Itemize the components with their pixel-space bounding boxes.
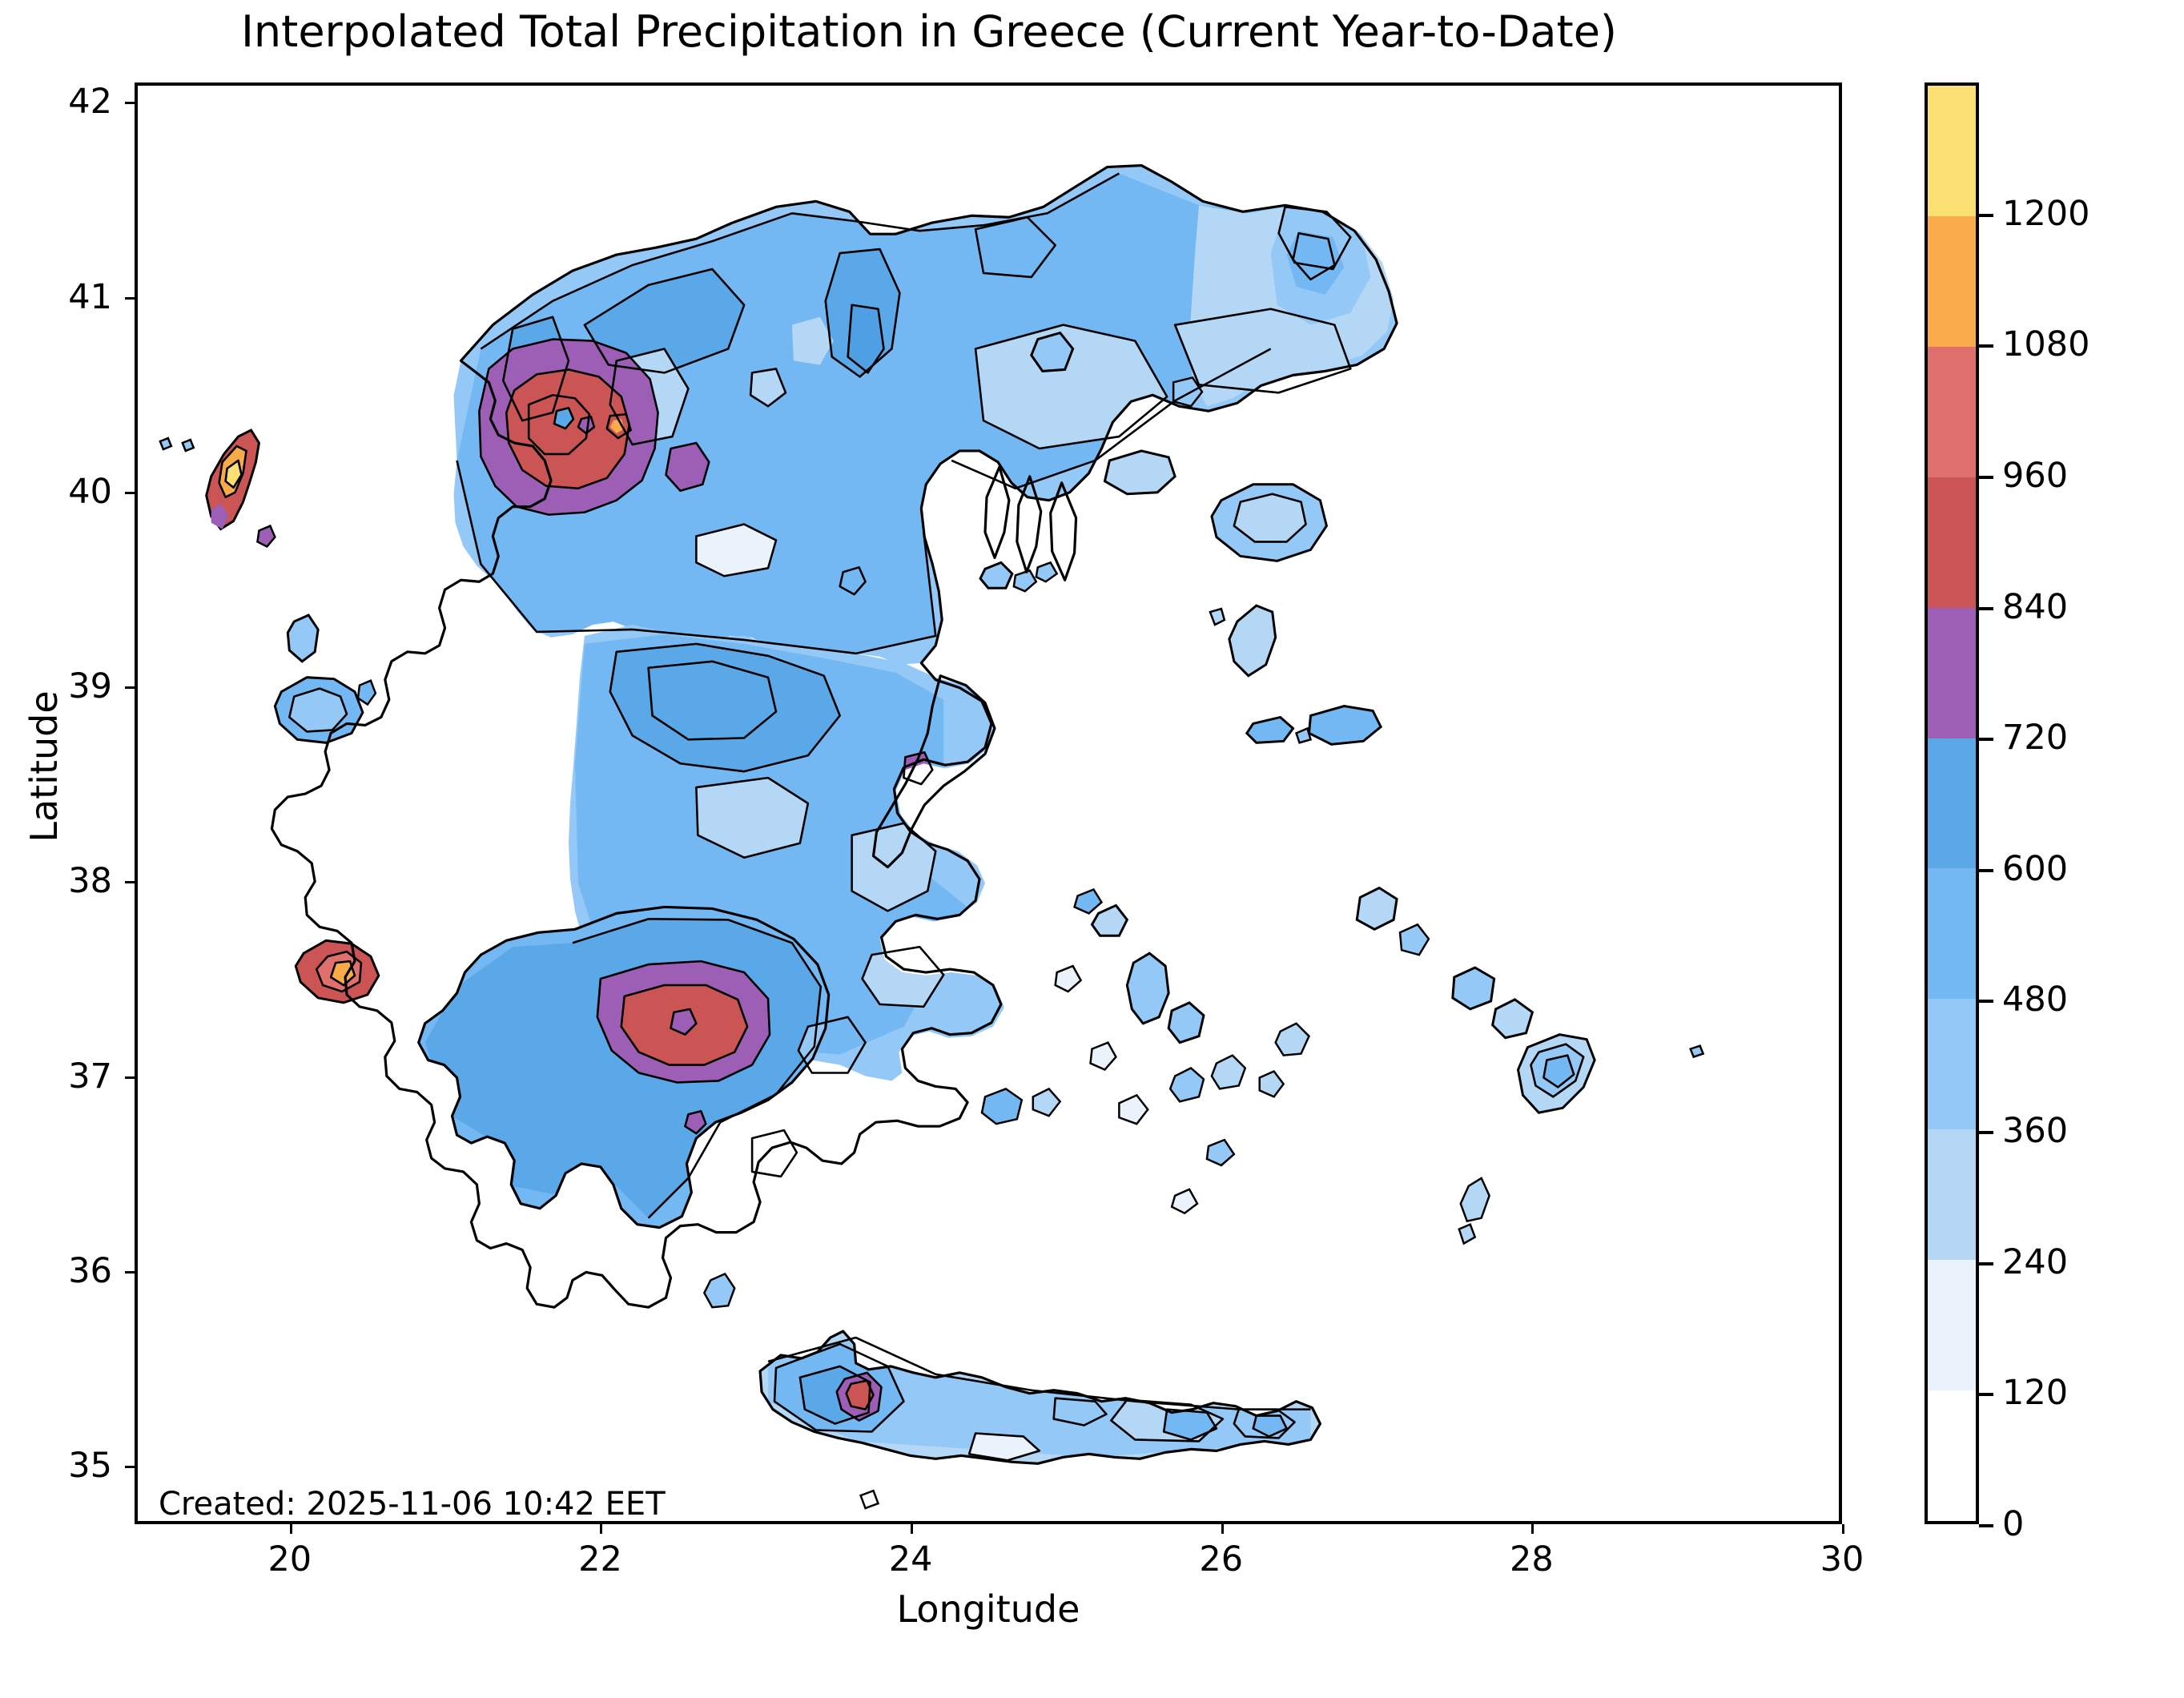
- x-tick-mark: [600, 1524, 602, 1534]
- colorbar-tick-label: 360: [2002, 1111, 2068, 1151]
- colorbar-tick-mark: [1979, 1393, 1993, 1396]
- colorbar-tick-label: 840: [2002, 587, 2068, 627]
- y-axis-label: Latitude: [22, 606, 66, 927]
- created-timestamp: Created: 2025-11-06 10:42 EET: [159, 1486, 666, 1523]
- colorbar-tick-label: 120: [2002, 1373, 2068, 1413]
- colorbar-tick-label: 0: [2002, 1504, 2024, 1544]
- y-tick-mark: [125, 492, 135, 494]
- y-tick-label: 39: [68, 666, 112, 706]
- x-tick-label: 30: [1820, 1539, 1864, 1579]
- colorbar-band-10: [1928, 86, 1976, 216]
- colorbar-tick-mark: [1979, 738, 1993, 741]
- colorbar-tick-label: 1200: [2002, 194, 2089, 234]
- x-axis-label: Longitude: [135, 1587, 1842, 1631]
- colorbar-tick-mark: [1979, 1131, 1993, 1134]
- island-zakynthos: [296, 940, 379, 1003]
- y-tick-label: 36: [68, 1251, 112, 1291]
- x-tick-mark: [1531, 1524, 1534, 1534]
- y-tick-label: 35: [68, 1446, 112, 1486]
- x-tick-label: 26: [1199, 1539, 1243, 1579]
- y-tick-label: 38: [68, 861, 112, 901]
- island-corfu: [207, 430, 259, 529]
- y-tick-label: 37: [68, 1056, 112, 1096]
- colorbar-tick-label: 600: [2002, 849, 2068, 889]
- cyclades-islands: [982, 890, 1309, 1213]
- greece-precipitation-map: [138, 86, 1839, 1521]
- y-tick-mark: [125, 686, 135, 689]
- page-title: Interpolated Total Precipitation in Gree…: [80, 6, 1778, 57]
- y-tick-label: 41: [68, 277, 112, 317]
- y-tick-mark: [125, 297, 135, 300]
- y-tick-mark: [125, 1466, 135, 1468]
- y-tick-mark: [125, 1271, 135, 1273]
- colorbar-tick-mark: [1979, 607, 1993, 610]
- colorbar-tick-label: 240: [2002, 1242, 2068, 1282]
- mainland-north-region: [138, 86, 1839, 1521]
- x-tick-label: 22: [578, 1539, 622, 1579]
- colorbar-tick-label: 480: [2002, 980, 2068, 1020]
- colorbar-tick-label: 1080: [2002, 324, 2089, 364]
- colorbar-band-4: [1928, 868, 1976, 999]
- colorbar-tick-label: 960: [2002, 456, 2068, 496]
- y-tick-mark: [125, 881, 135, 883]
- colorbar-tick-mark: [1979, 1262, 1993, 1265]
- y-tick-mark: [125, 1076, 135, 1079]
- x-tick-label: 24: [889, 1539, 933, 1579]
- x-tick-label: 20: [267, 1539, 312, 1579]
- y-tick-mark: [125, 102, 135, 104]
- map-axes: [135, 82, 1842, 1524]
- colorbar-band-2: [1928, 1129, 1976, 1260]
- precipitation-map-figure: Interpolated Total Precipitation in Gree…: [0, 0, 2184, 1698]
- y-tick-label: 40: [68, 472, 112, 512]
- colorbar-band-0: [1928, 1390, 1976, 1521]
- x-tick-mark: [911, 1524, 913, 1534]
- colorbar-tick-mark: [1979, 214, 1993, 217]
- sporades-islands: [980, 562, 1057, 591]
- colorbar-tick-label: 720: [2002, 718, 2068, 758]
- colorbar-tick-mark: [1979, 1000, 1993, 1003]
- colorbar-band-8: [1928, 347, 1976, 477]
- colorbar-band-6: [1928, 608, 1976, 738]
- colorbar-tick-mark: [1979, 1524, 1993, 1527]
- x-tick-mark: [1221, 1524, 1224, 1534]
- colorbar-band-1: [1928, 1260, 1976, 1390]
- colorbar: [1925, 82, 1979, 1524]
- x-tick-label: 28: [1510, 1539, 1554, 1579]
- y-tick-label: 42: [68, 82, 112, 122]
- colorbar-band-9: [1928, 216, 1976, 347]
- colorbar-band-3: [1928, 999, 1976, 1129]
- colorbar-tick-mark: [1979, 344, 1993, 348]
- colorbar-tick-mark: [1979, 869, 1993, 872]
- colorbar-tick-mark: [1979, 476, 1993, 479]
- colorbar-band-5: [1928, 738, 1976, 869]
- colorbar-band-7: [1928, 477, 1976, 608]
- x-tick-mark: [290, 1524, 292, 1534]
- x-tick-mark: [1842, 1524, 1844, 1534]
